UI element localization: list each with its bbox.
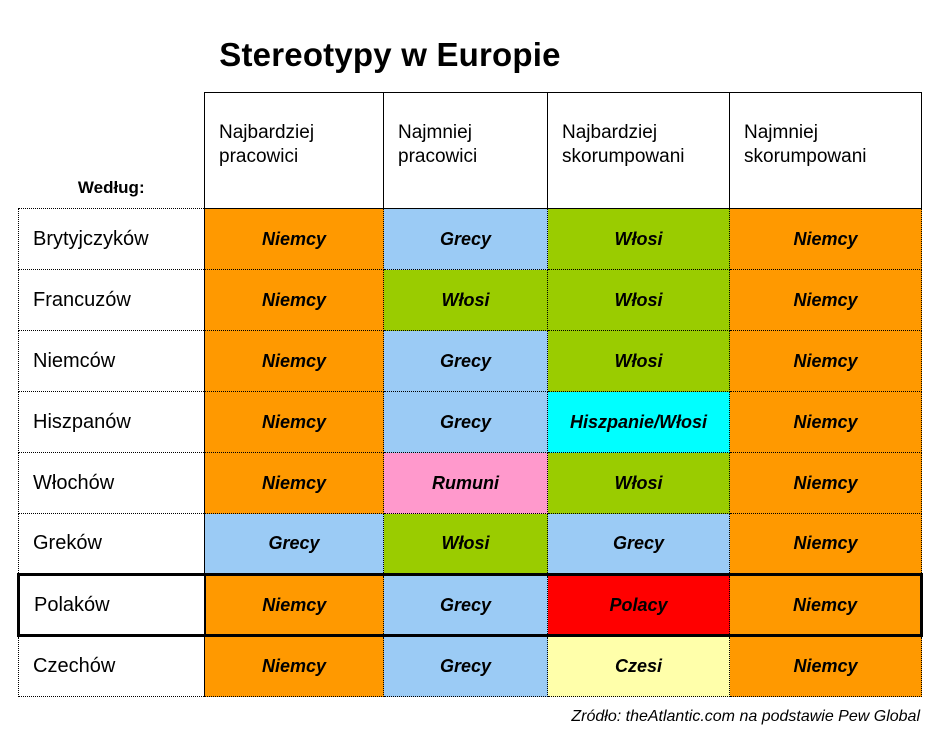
table-cell: Czesi [548,636,730,697]
table-cell: Niemcy [730,636,922,697]
row-label: Hiszpanów [19,392,205,453]
source-note: Zródło: theAtlantic.com na podstawie Pew… [0,708,920,726]
table-body: BrytyjczykówNiemcyGrecyWłosiNiemcyFrancu… [19,209,922,697]
page-title: Stereotypy w Europie [0,36,780,74]
table-cell: Niemcy [205,636,384,697]
table-cell: Niemcy [730,514,922,575]
table-cell: Włosi [548,209,730,270]
infographic-page: Stereotypy w Europie Według: Najbardziej… [0,0,933,740]
table-cell: Grecy [205,514,384,575]
row-label: Czechów [19,636,205,697]
table-cell: Włosi [548,331,730,392]
table-cell: Niemcy [730,270,922,331]
table-cell: Hiszpanie/Włosi [548,392,730,453]
row-label: Włochów [19,453,205,514]
table-row: PolakówNiemcyGrecyPolacyNiemcy [19,575,922,636]
table-cell: Niemcy [205,331,384,392]
table-cell: Grecy [384,331,548,392]
column-header-least-corrupt: Najmniej skorumpowani [730,93,922,209]
table-row: CzechówNiemcyGrecyCzesiNiemcy [19,636,922,697]
table-cell: Grecy [384,575,548,636]
table-cell: Włosi [548,453,730,514]
table-cell: Niemcy [730,453,922,514]
table-cell: Włosi [384,514,548,575]
table-cell: Niemcy [730,392,922,453]
row-label: Brytyjczyków [19,209,205,270]
table-row: WłochówNiemcyRumuniWłosiNiemcy [19,453,922,514]
table-cell: Niemcy [730,575,922,636]
column-header-most-hardworking: Najbardziej pracowici [205,93,384,209]
row-label: Francuzów [19,270,205,331]
table-cell: Włosi [548,270,730,331]
row-label: Niemców [19,331,205,392]
column-header-least-hardworking: Najmniej pracowici [384,93,548,209]
table-cell: Niemcy [205,575,384,636]
row-label-header: Według: [19,93,205,209]
stereotypes-table-container: Według: Najbardziej pracowici Najmniej p… [17,92,921,697]
table-row: NiemcówNiemcyGrecyWłosiNiemcy [19,331,922,392]
table-row: GrekówGrecyWłosiGrecyNiemcy [19,514,922,575]
table-cell: Niemcy [205,392,384,453]
table-row: BrytyjczykówNiemcyGrecyWłosiNiemcy [19,209,922,270]
table-cell: Grecy [548,514,730,575]
table-cell: Grecy [384,392,548,453]
row-label: Greków [19,514,205,575]
table-cell: Grecy [384,209,548,270]
column-header-most-corrupt: Najbardziej skorumpowani [548,93,730,209]
stereotypes-table: Według: Najbardziej pracowici Najmniej p… [17,92,923,697]
row-label: Polaków [19,575,205,636]
table-row: FrancuzówNiemcyWłosiWłosiNiemcy [19,270,922,331]
table-cell: Grecy [384,636,548,697]
header-row: Według: Najbardziej pracowici Najmniej p… [19,93,922,209]
table-row: HiszpanówNiemcyGrecyHiszpanie/WłosiNiemc… [19,392,922,453]
table-cell: Włosi [384,270,548,331]
table-cell: Polacy [548,575,730,636]
table-cell: Niemcy [205,453,384,514]
table-cell: Rumuni [384,453,548,514]
table-cell: Niemcy [730,209,922,270]
table-cell: Niemcy [205,209,384,270]
table-cell: Niemcy [730,331,922,392]
table-header: Według: Najbardziej pracowici Najmniej p… [19,93,922,209]
table-cell: Niemcy [205,270,384,331]
